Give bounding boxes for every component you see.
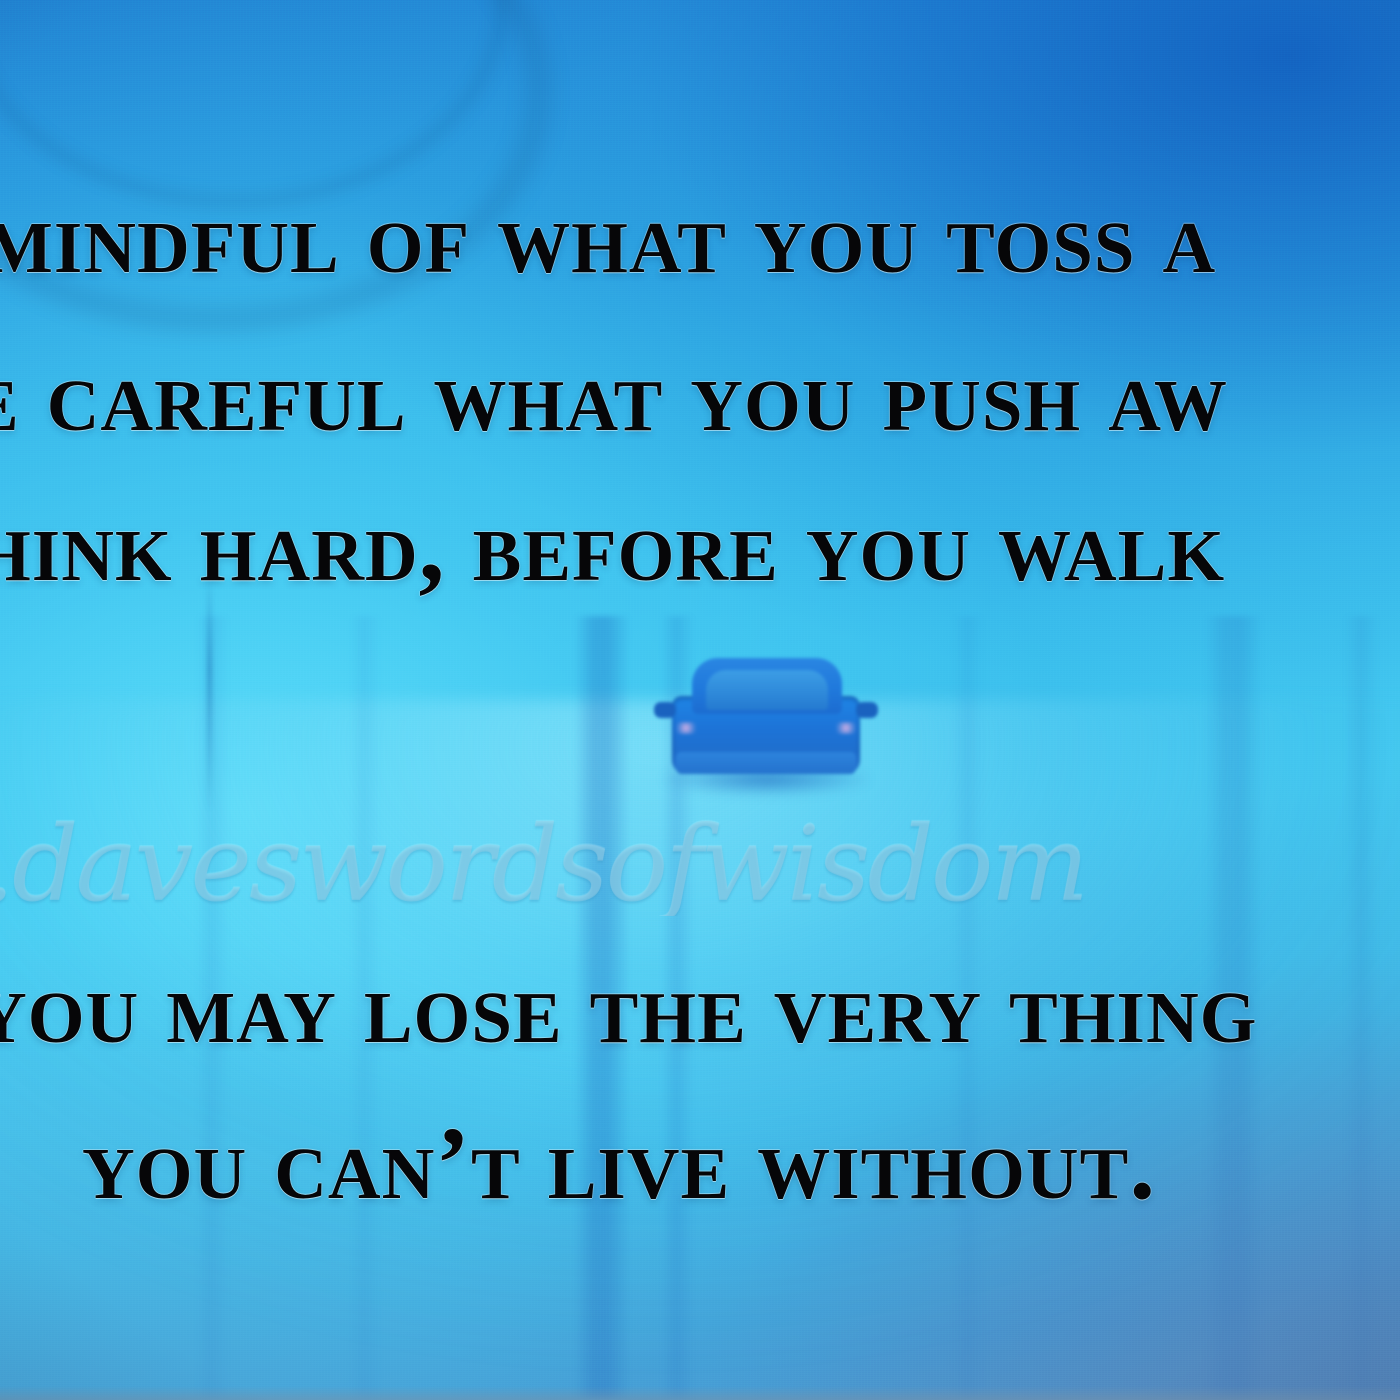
vignette-overlay: [0, 0, 1400, 1400]
quote-image: .daveswordsofwisdom Mindful of what you …: [0, 0, 1400, 1400]
